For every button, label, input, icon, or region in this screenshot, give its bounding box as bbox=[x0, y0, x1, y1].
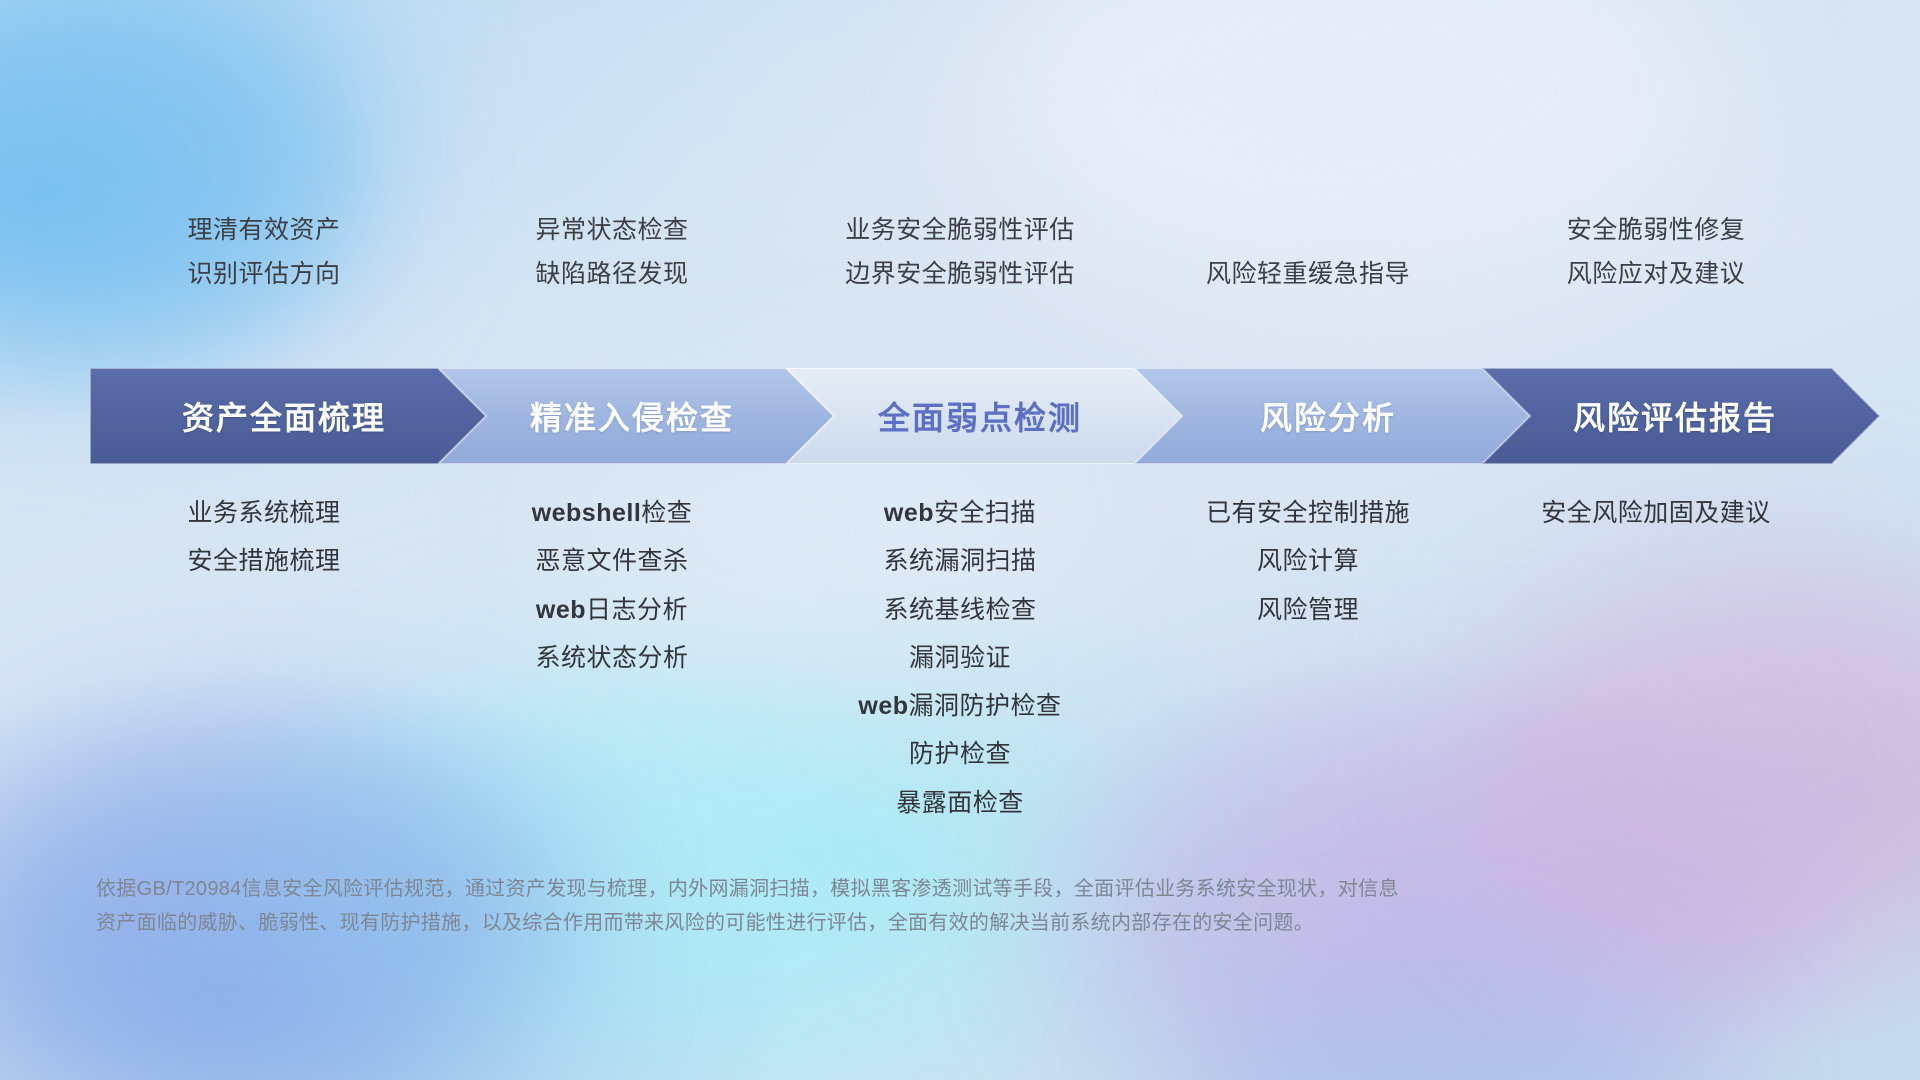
stage-3-bottom-list: 已有安全控制措施 风险计算 风险管理 bbox=[1134, 498, 1482, 626]
process-arrow-band: 资产全面梳理 精准入侵检查 bbox=[90, 368, 1880, 464]
item-cn-part: 业务系统梳理 bbox=[187, 499, 340, 527]
item-cn-part: 安全风险加固及建议 bbox=[1541, 499, 1771, 527]
top-list-item: 理清有效资产 bbox=[187, 214, 340, 246]
bottom-list-item: web日志分析 bbox=[536, 595, 688, 626]
item-cn-part: 安全措施梳理 bbox=[187, 547, 340, 575]
item-cn-part: 系统状态分析 bbox=[535, 644, 688, 672]
infographic-canvas: 理清有效资产 识别评估方向 业务系统梳理 安全措施梳理 异常状态检查 缺陷路径发… bbox=[0, 0, 1920, 1080]
stage-4-bottom-list: 安全风险加固及建议 bbox=[1482, 498, 1830, 529]
item-cn-part: 风险计算 bbox=[1257, 547, 1359, 575]
stage-arrow-label: 精准入侵检查 bbox=[530, 393, 734, 439]
bottom-list-item: web漏洞防护检查 bbox=[858, 691, 1061, 722]
bottom-list-item: 业务系统梳理 bbox=[187, 498, 340, 529]
item-cn-part: 检查 bbox=[641, 499, 692, 527]
stage-1-bottom-list: webshell检查 恶意文件查杀 web日志分析 系统状态分析 bbox=[438, 498, 786, 674]
item-en-part: webshell bbox=[532, 499, 642, 527]
item-cn-part: 系统漏洞扫描 bbox=[883, 547, 1036, 575]
bottom-list-item: 系统漏洞扫描 bbox=[883, 546, 1036, 577]
item-cn-part: 防护检查 bbox=[909, 740, 1011, 768]
stage-arrow-1[interactable]: 精准入侵检查 bbox=[438, 368, 838, 464]
stage-arrow-label: 全面弱点检测 bbox=[878, 393, 1082, 439]
bottom-list-item: 恶意文件查杀 bbox=[535, 546, 688, 577]
footer-note: 依据GB/T20984信息安全风险评估规范，通过资产发现与梳理，内外网漏洞扫描，… bbox=[96, 872, 1656, 941]
stage-4-top-list: 安全脆弱性修复 风险应对及建议 bbox=[1482, 214, 1830, 290]
stage-0-top-list: 理清有效资产 识别评估方向 bbox=[90, 214, 438, 290]
stage-arrow-0[interactable]: 资产全面梳理 bbox=[90, 368, 490, 464]
item-en-part: web bbox=[858, 692, 908, 720]
top-list-item: 缺陷路径发现 bbox=[535, 258, 688, 290]
footer-note-line-1: 依据GB/T20984信息安全风险评估规范，通过资产发现与梳理，内外网漏洞扫描，… bbox=[96, 872, 1656, 906]
bottom-list-item: web安全扫描 bbox=[884, 498, 1036, 529]
top-list-item: 风险轻重缓急指导 bbox=[1206, 258, 1410, 290]
item-cn-part: 暴露面检查 bbox=[896, 789, 1024, 817]
item-cn-part: 系统基线检查 bbox=[883, 596, 1036, 624]
bottom-list-item: 风险计算 bbox=[1257, 546, 1359, 577]
bottom-list-item: 漏洞验证 bbox=[909, 643, 1011, 674]
bottom-list-item: 系统状态分析 bbox=[535, 643, 688, 674]
top-list-item: 风险应对及建议 bbox=[1567, 258, 1746, 290]
bottom-list-item: 暴露面检查 bbox=[896, 788, 1024, 819]
item-en-part: web bbox=[536, 596, 586, 624]
item-cn-part: 风险管理 bbox=[1257, 596, 1359, 624]
top-list-item: 识别评估方向 bbox=[187, 258, 340, 290]
top-list-item: 业务安全脆弱性评估 bbox=[845, 214, 1075, 246]
stage-0-bottom-list: 业务系统梳理 安全措施梳理 bbox=[90, 498, 438, 578]
top-list-item: 边界安全脆弱性评估 bbox=[845, 258, 1075, 290]
stage-3-top-list: 风险轻重缓急指导 bbox=[1134, 258, 1482, 290]
item-en-part: web bbox=[884, 499, 934, 527]
bottom-list-item: 风险管理 bbox=[1257, 595, 1359, 626]
stage-arrow-label: 资产全面梳理 bbox=[182, 393, 386, 439]
bottom-list-item: 已有安全控制措施 bbox=[1206, 498, 1410, 529]
stage-arrow-3[interactable]: 风险分析 bbox=[1134, 368, 1534, 464]
item-cn-part: 漏洞验证 bbox=[909, 644, 1011, 672]
stage-arrow-4[interactable]: 风险评估报告 bbox=[1482, 368, 1880, 464]
stage-2-bottom-list: web安全扫描 系统漏洞扫描 系统基线检查 漏洞验证 web漏洞防护检查 防护检… bbox=[786, 498, 1134, 819]
item-cn-part: 恶意文件查杀 bbox=[535, 547, 688, 575]
stage-2-top-list: 业务安全脆弱性评估 边界安全脆弱性评估 bbox=[786, 214, 1134, 290]
stage-arrow-label: 风险评估报告 bbox=[1573, 393, 1777, 439]
top-list-item: 安全脆弱性修复 bbox=[1567, 214, 1746, 246]
bottom-list-item: 防护检查 bbox=[909, 739, 1011, 770]
stage-arrow-label: 风险分析 bbox=[1260, 393, 1396, 439]
item-cn-part: 已有安全控制措施 bbox=[1206, 499, 1410, 527]
bottom-list-item: 安全措施梳理 bbox=[187, 546, 340, 577]
stage-arrow-2[interactable]: 全面弱点检测 bbox=[786, 368, 1186, 464]
item-cn-part: 安全扫描 bbox=[934, 499, 1036, 527]
item-cn-part: 漏洞防护检查 bbox=[909, 692, 1062, 720]
top-list-item: 异常状态检查 bbox=[535, 214, 688, 246]
bottom-list-item: 系统基线检查 bbox=[883, 595, 1036, 626]
bottom-list-item: webshell检查 bbox=[532, 498, 693, 529]
footer-note-line-2: 资产面临的威胁、脆弱性、现有防护措施，以及综合作用而带来风险的可能性进行评估，全… bbox=[96, 906, 1656, 940]
bottom-list-item: 安全风险加固及建议 bbox=[1541, 498, 1771, 529]
item-cn-part: 日志分析 bbox=[586, 596, 688, 624]
stage-1-top-list: 异常状态检查 缺陷路径发现 bbox=[438, 214, 786, 290]
